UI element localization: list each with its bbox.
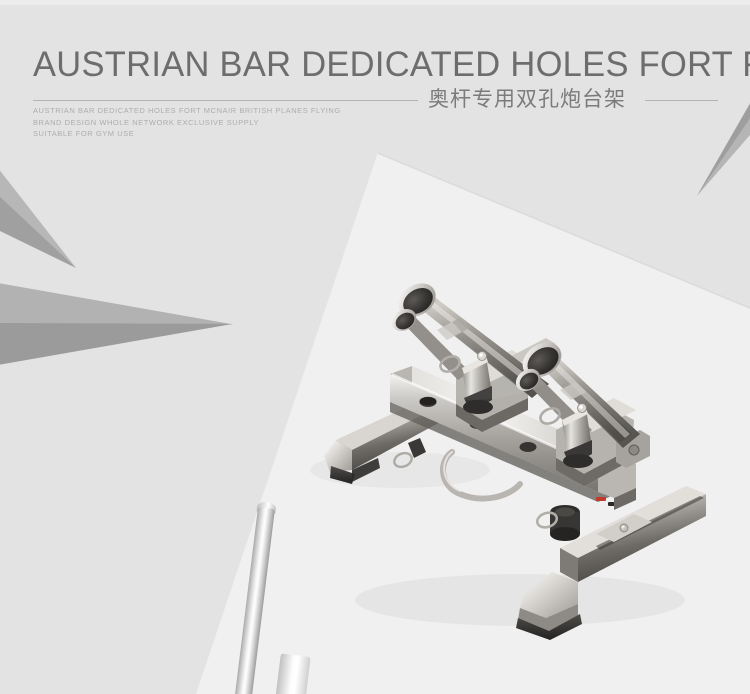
banner-header: AUSTRIAN BAR DEDICATED HOLES FORT FRAME …: [0, 0, 750, 150]
pin-collar-left: [463, 400, 493, 414]
tagline-line-3: SUITABLE FOR GYM USE: [33, 128, 341, 140]
tagline-block: AUSTRIAN BAR DEDICATED HOLES FORT MCNAIR…: [33, 105, 341, 140]
page-title: AUSTRIAN BAR DEDICATED HOLES FORT FRAME: [33, 45, 713, 85]
beam-hole: [520, 442, 537, 452]
divider-rule-left: [33, 100, 418, 101]
product-banner: AUSTRIAN BAR DEDICATED HOLES FORT FRAME …: [0, 0, 750, 694]
subtitle-chinese: 奥杆专用双孔炮台架: [428, 86, 626, 114]
tagline-line-1: AUSTRIAN BAR DEDICATED HOLES FORT MCNAIR…: [33, 105, 341, 117]
pin-collar-right: [563, 454, 593, 468]
tagline-line-2: BRAND DESIGN WHOLE NETWORK EXCLUSIVE SUP…: [33, 117, 341, 129]
brand-label: [596, 497, 606, 501]
divider-rule-right: [645, 100, 718, 101]
